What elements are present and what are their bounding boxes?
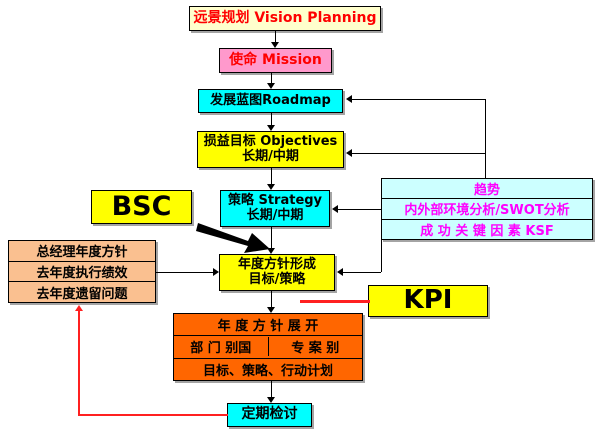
deployment-row-split: 部 门 别国 专 案 别	[174, 336, 362, 358]
connector-trend-to-objectives	[352, 153, 485, 154]
inputs-row-1-label: 去年度执行绩效	[36, 262, 127, 281]
flowchart-canvas: 远景规划 Vision Planning 使命 Mission 发展蓝图Road…	[0, 0, 600, 433]
node-vision-planning-label: 远景规划 Vision Planning	[190, 11, 380, 27]
inputs-row-0-label: 总经理年度方针	[36, 241, 127, 260]
deployment-title-label: 年 度 方 针 展 开	[218, 315, 319, 334]
arrowhead-deployment-to-review	[267, 397, 275, 403]
node-review-label: 定期检讨	[228, 407, 311, 423]
trend-row: 内外部环境分析/SWOT分析	[382, 199, 592, 219]
deployment-row-title: 年 度 方 针 展 开	[174, 314, 362, 336]
connector-trend-to-roadmap	[352, 99, 485, 100]
arrowhead-inputs-to-annual-policy	[213, 268, 219, 276]
arrowhead-annual-policy-to-deployment	[267, 307, 275, 313]
inputs-row-2-label: 去年度遗留问题	[36, 283, 127, 302]
node-annual-policy-line1: 年度方针形成	[220, 258, 334, 273]
node-bsc: BSC	[91, 190, 192, 224]
node-kpi-label: KPI	[369, 286, 487, 315]
connector-roadmap-to-objectives	[271, 113, 272, 125]
connector-vision-to-mission	[275, 31, 276, 42]
deployment-dept-label: 部 门 别国	[174, 337, 269, 356]
connector-trend-right-rail	[485, 99, 486, 178]
arrowhead-mission-to-roadmap	[267, 83, 275, 89]
node-objectives: 损益目标 Objectives 长期/中期	[197, 131, 344, 168]
connector-annual-policy-to-deployment	[271, 291, 272, 307]
trend-row-2-label: 成 功 关 键 因 素 KSF	[420, 220, 553, 239]
connector-trend-to-strategy	[338, 209, 381, 210]
node-mission-label: 使命 Mission	[220, 53, 331, 69]
deployment-project-label: 专 案 别	[269, 337, 363, 356]
connector-objectives-to-strategy	[271, 168, 272, 184]
inputs-row: 去年度执行绩效	[9, 262, 155, 283]
connector-trend-down-rail	[381, 240, 382, 272]
node-objectives-line1: 损益目标 Objectives	[198, 135, 343, 150]
arrowhead-review-feedback	[75, 305, 83, 311]
trend-row: 趋势	[382, 179, 592, 199]
connector-review-feedback-vertical	[78, 311, 80, 415]
node-vision-planning: 远景规划 Vision Planning	[189, 6, 381, 31]
connector-inputs-to-annual-policy	[156, 272, 213, 273]
arrowhead-trend-to-objectives	[346, 149, 352, 157]
deployment-row-plan: 目标、策略、行动计划	[174, 359, 362, 380]
node-review: 定期检讨	[227, 403, 312, 427]
trend-row-1-label: 内外部环境分析/SWOT分析	[404, 199, 569, 218]
trend-row-0-label: 趋势	[474, 179, 500, 198]
node-roadmap-label: 发展蓝图Roadmap	[199, 94, 342, 109]
connector-trend-to-annual-policy	[343, 272, 381, 273]
arrowhead-trend-to-annual-policy	[337, 268, 343, 276]
node-mission: 使命 Mission	[219, 48, 332, 73]
connector-deployment-to-review	[271, 381, 272, 397]
node-annual-policy: 年度方针形成 目标/策略	[219, 254, 335, 291]
node-deployment: 年 度 方 针 展 开 部 门 别国 专 案 别 目标、策略、行动计划	[173, 313, 363, 381]
connector-kpi-to-annual-policy	[300, 300, 370, 303]
inputs-row: 去年度遗留问题	[9, 282, 155, 302]
deployment-plan-label: 目标、策略、行动计划	[203, 360, 333, 379]
node-inputs-list: 总经理年度方针 去年度执行绩效 去年度遗留问题	[8, 240, 156, 303]
inputs-row: 总经理年度方针	[9, 241, 155, 262]
node-objectives-line2: 长期/中期	[198, 150, 343, 165]
node-trend-analysis: 趋势 内外部环境分析/SWOT分析 成 功 关 键 因 素 KSF	[381, 178, 593, 240]
connector-mission-to-roadmap	[271, 73, 272, 83]
node-bsc-label: BSC	[92, 192, 191, 222]
node-kpi: KPI	[368, 285, 488, 317]
trend-row: 成 功 关 键 因 素 KSF	[382, 220, 592, 239]
arrowhead-trend-to-strategy	[332, 205, 338, 213]
connector-review-feedback-horizontal	[78, 414, 228, 416]
bsc-emphasis-arrow	[196, 219, 276, 259]
arrowhead-objectives-to-strategy	[267, 184, 275, 190]
arrowhead-trend-to-roadmap	[346, 95, 352, 103]
node-roadmap: 发展蓝图Roadmap	[198, 89, 343, 113]
arrowhead-roadmap-to-objectives	[267, 125, 275, 131]
node-strategy-line1: 策略 Strategy	[221, 194, 329, 209]
arrowhead-vision-to-mission	[271, 42, 279, 48]
node-annual-policy-line2: 目标/策略	[220, 273, 334, 288]
